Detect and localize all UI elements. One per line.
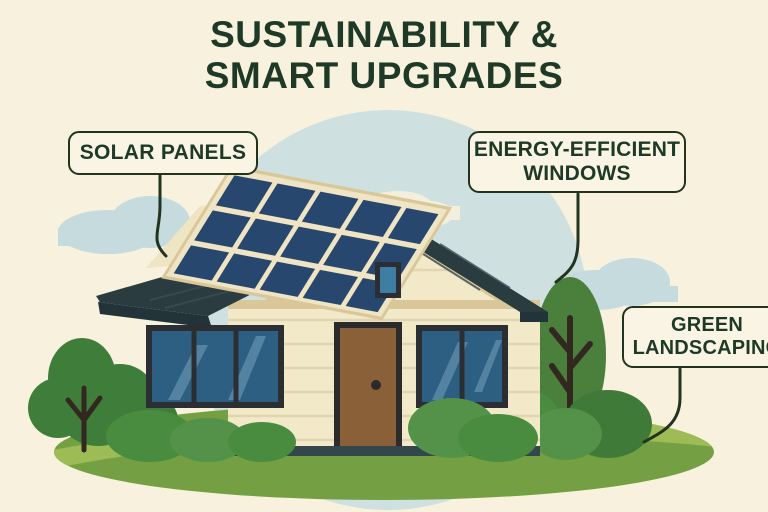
callout-energy-efficient-windows-label: ENERGY-EFFICIENT WINDOWS: [474, 138, 680, 187]
door-knob-icon: [371, 380, 381, 390]
attic-window: [375, 262, 401, 298]
roof-right-eave: [520, 312, 548, 322]
infographic-canvas: SUSTAINABILITY & SMART UPGRADES SOLAR PA…: [0, 0, 768, 512]
callout-solar-panels[interactable]: SOLAR PANELS: [68, 131, 258, 175]
callout-solar-panels-label: SOLAR PANELS: [80, 141, 247, 165]
door-panel: [340, 328, 396, 448]
window-right: [416, 325, 508, 408]
page-title: SUSTAINABILITY & SMART UPGRADES: [0, 14, 768, 97]
window-left: [146, 325, 284, 408]
front-door: [334, 322, 402, 448]
callout-green-landscaping[interactable]: GREEN LANDSCAPING: [622, 306, 768, 368]
callout-green-landscaping-label: GREEN LANDSCAPING: [633, 314, 768, 360]
door-step: [326, 446, 410, 456]
callout-energy-efficient-windows[interactable]: ENERGY-EFFICIENT WINDOWS: [468, 131, 686, 193]
